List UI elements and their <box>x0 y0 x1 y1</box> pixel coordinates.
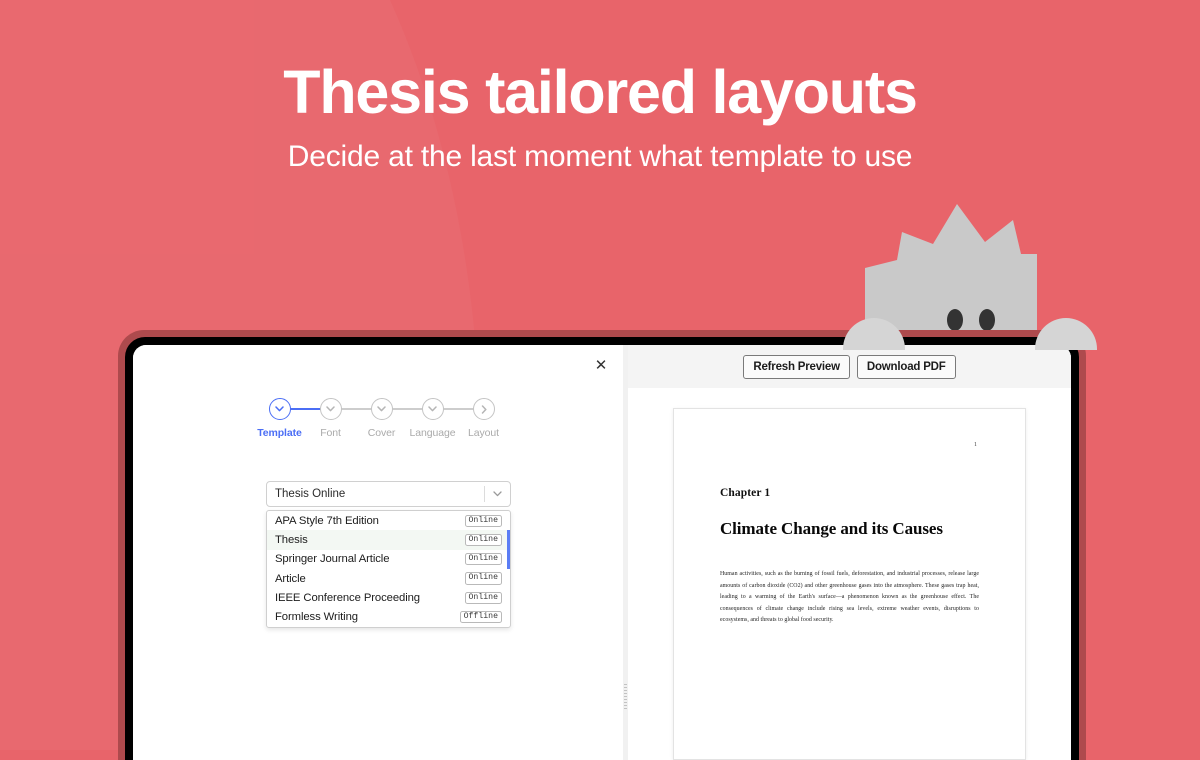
chevron-down-icon <box>493 491 502 497</box>
document-page: 1 Chapter 1 Climate Change and its Cause… <box>673 408 1026 760</box>
status-badge: Online <box>465 553 502 565</box>
list-item[interactable]: Formless Writing Offline <box>267 607 510 626</box>
device-frame: ✕ Template <box>118 330 1086 760</box>
list-item[interactable]: Springer Journal Article Online <box>267 550 510 569</box>
template-wizard-modal: ✕ Template <box>133 345 623 760</box>
wizard-stepper: Template Font <box>254 398 509 439</box>
template-select-value: Thesis Online <box>275 488 484 500</box>
stepper-circle <box>269 398 291 420</box>
template-name: IEEE Conference Proceeding <box>275 592 465 604</box>
stepper-circle <box>320 398 342 420</box>
chevron-down-icon <box>326 406 335 412</box>
preview-toolbar: Refresh Preview Download PDF <box>628 345 1071 388</box>
status-badge: Online <box>465 515 502 527</box>
stepper-step-layout[interactable]: Layout <box>458 398 509 439</box>
page-number: 1 <box>974 442 977 448</box>
page-title: Thesis tailored layouts <box>0 0 1200 126</box>
stepper-label: Language <box>410 427 456 439</box>
template-name: Thesis <box>275 534 465 546</box>
stepper-label: Font <box>320 427 341 439</box>
chevron-down-icon <box>377 406 386 412</box>
hero-section: Thesis tailored layouts Decide at the la… <box>0 0 1200 174</box>
status-badge: Offline <box>460 611 502 623</box>
chevron-right-icon <box>481 405 487 414</box>
select-separator <box>484 486 485 502</box>
template-name: Springer Journal Article <box>275 553 465 565</box>
template-select-group: Thesis Online APA Style 7th Edition Onli… <box>266 481 511 628</box>
preview-body: 1 Chapter 1 Climate Change and its Cause… <box>628 388 1071 760</box>
stepper-step-cover[interactable]: Cover <box>356 398 407 439</box>
mascot-eye-right <box>979 309 995 331</box>
chevron-down-icon <box>428 406 437 412</box>
list-item[interactable]: Thesis Online <box>267 530 510 549</box>
list-item[interactable]: APA Style 7th Edition Online <box>267 511 510 530</box>
template-name: Formless Writing <box>275 611 460 623</box>
stepper-circle <box>371 398 393 420</box>
stepper-step-language[interactable]: Language <box>407 398 458 439</box>
download-pdf-button[interactable]: Download PDF <box>857 355 956 379</box>
page-subtitle: Decide at the last moment what template … <box>0 126 1200 174</box>
mascot-eye-left <box>947 309 963 331</box>
close-icon[interactable]: ✕ <box>591 356 611 376</box>
status-badge: Online <box>465 534 502 546</box>
stepper-circle <box>473 398 495 420</box>
stepper-step-font[interactable]: Font <box>305 398 356 439</box>
chevron-down-icon <box>275 406 284 412</box>
template-name: APA Style 7th Edition <box>275 515 465 527</box>
device-bezel: ✕ Template <box>125 337 1079 760</box>
dropdown-scrollbar[interactable] <box>507 530 510 569</box>
stepper-step-template[interactable]: Template <box>254 398 305 439</box>
status-badge: Online <box>465 592 502 604</box>
template-dropdown-list[interactable]: APA Style 7th Edition Online Thesis Onli… <box>266 510 511 628</box>
stepper-label: Layout <box>468 427 499 439</box>
document-title: Climate Change and its Causes <box>720 519 979 539</box>
divider-drag-handle[interactable] <box>624 684 627 710</box>
list-item[interactable]: IEEE Conference Proceeding Online <box>267 588 510 607</box>
device-screen: ✕ Template <box>133 345 1071 760</box>
pdf-preview-pane: Refresh Preview Download PDF 1 Chapter 1… <box>628 345 1071 760</box>
stepper-circle <box>422 398 444 420</box>
document-chapter-label: Chapter 1 <box>720 487 979 499</box>
stepper-label: Template <box>257 427 302 439</box>
template-name: Article <box>275 573 465 585</box>
stepper-label: Cover <box>368 427 396 439</box>
list-item[interactable]: Article Online <box>267 569 510 588</box>
template-select[interactable]: Thesis Online <box>266 481 511 507</box>
document-paragraph: Human activities, such as the burning of… <box>720 569 979 627</box>
refresh-preview-button[interactable]: Refresh Preview <box>743 355 850 379</box>
status-badge: Online <box>465 572 502 584</box>
